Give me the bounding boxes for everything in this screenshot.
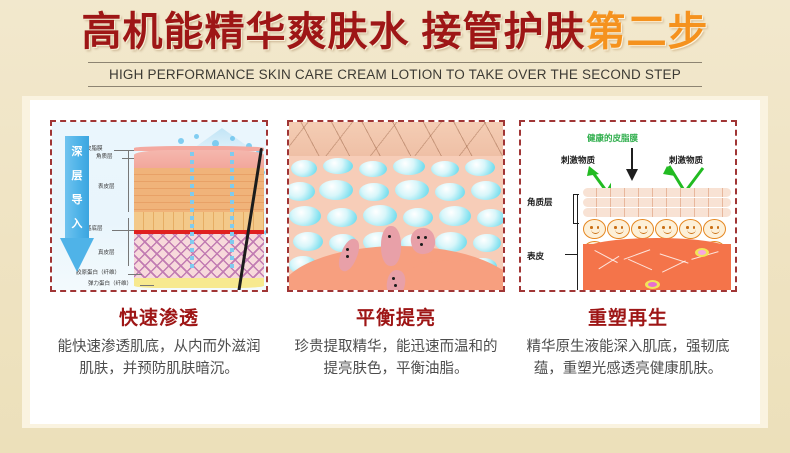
- deep-import-arrow: 深 层 导 入: [60, 136, 94, 276]
- page-subtitle: HIGH PERFORMANCE SKIN CARE CREAM LOTION …: [0, 64, 790, 86]
- panel-2-figure-border: [287, 120, 505, 292]
- corneum-brace: [573, 194, 574, 224]
- label-stratum-corneum: 角质层: [527, 196, 553, 208]
- corneum-layer: [134, 150, 264, 168]
- skin-surface-texture: [289, 122, 503, 156]
- pore-icon: [381, 226, 401, 266]
- label-epidermis: 表皮: [527, 250, 544, 262]
- skin-layers-stack: [134, 140, 264, 290]
- feature-panel-fast-penetration: 皮脂膜 角质层 表皮层 基底层 真皮层 胶原蛋白（纤维） 弹力蛋白（纤维）: [50, 120, 268, 380]
- keratinocyte-cell: [679, 219, 702, 239]
- absorption-channel-icon: [230, 152, 234, 270]
- panel-2-heading: 平衡提亮: [287, 306, 505, 330]
- title-segment-orange: 第二步: [586, 9, 709, 55]
- label-healthy-sebum-film: 健康的皮脂膜: [587, 132, 638, 144]
- title-segment-red-2: 接管护肤: [422, 9, 586, 55]
- promo-banner-page: 高机能精华爽肤水接管护肤第二步 HIGH PERFORMANCE SKIN CA…: [0, 0, 790, 453]
- arrow-head-icon: [60, 238, 94, 272]
- healthy-sebum-barrier-diagram: 健康的皮脂膜 刺激物质 刺激物质: [521, 122, 735, 290]
- label-elastin-fiber: 弹力蛋白（纤维）: [88, 281, 132, 288]
- label-dermis: 真皮层: [98, 250, 115, 257]
- panel-3-figure-border: 健康的皮脂膜 刺激物质 刺激物质: [519, 120, 737, 292]
- center-down-arrow-icon: [625, 148, 639, 182]
- panel-1-heading: 快速渗透: [50, 306, 268, 330]
- feature-panel-remodel-regenerate: 健康的皮脂膜 刺激物质 刺激物质: [519, 120, 737, 380]
- panel-3-heading: 重塑再生: [519, 306, 737, 330]
- panel-1-body: 能快速渗透肌底，从内而外滋润肌肤，并预防肌肤暗沉。: [50, 336, 268, 380]
- deep-import-arrow-label: 深 层 导 入: [65, 140, 89, 236]
- title-segment-red-1: 高机能精华爽肤水: [82, 9, 410, 55]
- header-rule-bottom: [88, 86, 702, 87]
- page-title: 高机能精华爽肤水接管护肤第二步: [0, 8, 790, 56]
- keratinocyte-cell: [703, 219, 726, 239]
- arrow-char-3: 导: [65, 188, 89, 212]
- panel-1-figure-border: 皮脂膜 角质层 表皮层 基底层 真皮层 胶原蛋白（纤维） 弹力蛋白（纤维）: [50, 120, 268, 292]
- epidermis-brace: [577, 194, 578, 292]
- keratinocyte-row: [583, 219, 731, 239]
- keratinocyte-cell: [583, 219, 606, 239]
- arrow-char-4: 入: [65, 212, 89, 236]
- skin-hydration-bubbles-diagram: [289, 122, 503, 290]
- feature-panel-balance-brighten: 平衡提亮 珍贵提取精华，能迅速而温和的提亮肤色，平衡油脂。: [287, 120, 505, 380]
- keratinocyte-cell: [607, 219, 630, 239]
- header-rule-top: [88, 62, 702, 63]
- keratinocyte-cell: [655, 219, 678, 239]
- dermis-block: [583, 244, 731, 290]
- skin-cross-section-penetration-diagram: 皮脂膜 角质层 表皮层 基底层 真皮层 胶原蛋白（纤维） 弹力蛋白（纤维）: [52, 122, 266, 290]
- basal-layer: [134, 212, 264, 230]
- epidermis-layer: [134, 168, 264, 212]
- subcutaneous-fat-layer: [134, 278, 264, 288]
- banner-header: 高机能精华爽肤水接管护肤第二步 HIGH PERFORMANCE SKIN CA…: [0, 0, 790, 96]
- label-stratum-corneum: 角质层: [96, 154, 113, 161]
- panel-3-body: 精华原生液能深入肌底，强韧底蕴，重塑光感透亮健康肌肤。: [519, 336, 737, 380]
- corneocyte-row: [583, 208, 731, 217]
- keratinocyte-cell: [631, 219, 654, 239]
- hydration-zone: [289, 156, 503, 292]
- arrow-char-2: 层: [65, 164, 89, 188]
- corneocyte-row: [583, 188, 731, 197]
- absorption-channel-icon: [190, 152, 194, 272]
- arrow-char-1: 深: [65, 140, 89, 164]
- corneocyte-row: [583, 198, 731, 207]
- panel-2-body: 珍贵提取精华，能迅速而温和的提亮肤色，平衡油脂。: [287, 336, 505, 380]
- label-epidermis: 表皮层: [98, 184, 115, 191]
